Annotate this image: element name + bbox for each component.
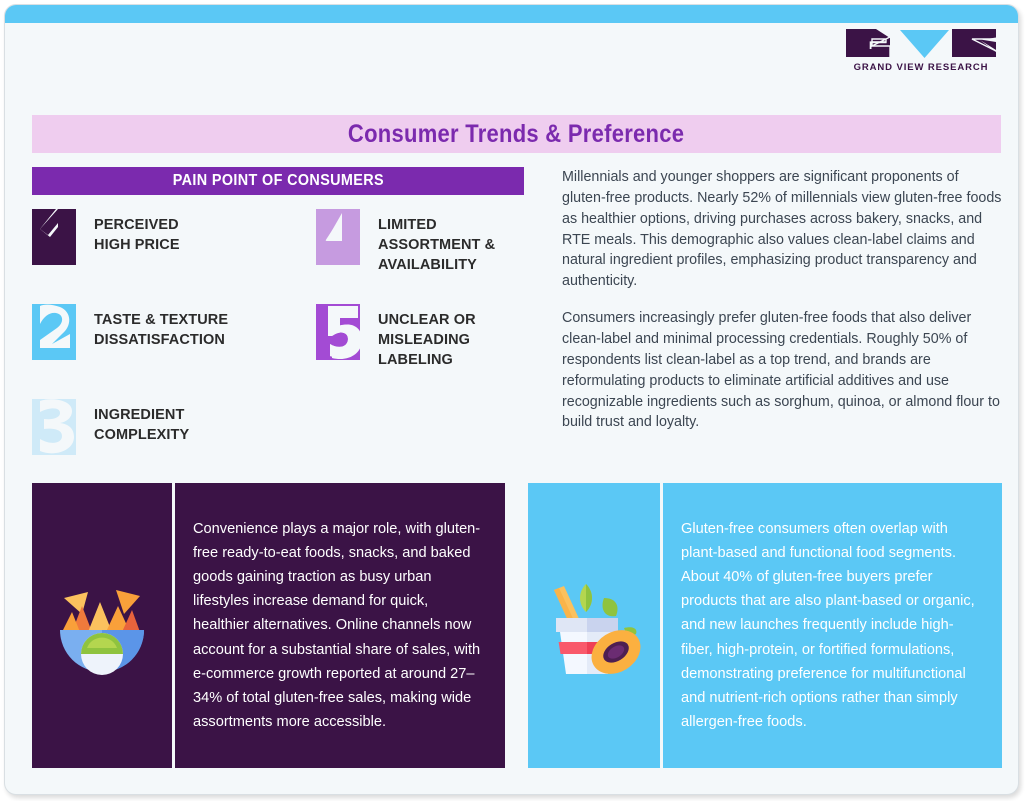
pain-point-label-line: INGREDIENT: [94, 407, 184, 423]
pain-point-item-4: LIMITED ASSORTMENT & AVAILABILITY: [316, 209, 526, 275]
pain-point-item-2: TASTE & TEXTURE DISSATISFACTION: [32, 304, 262, 360]
pain-point-label-5: UNCLEAR OR MISLEADING LABELING: [378, 304, 476, 370]
number-4-icon: [316, 209, 364, 265]
pain-point-label-1: PERCEIVED HIGH PRICE: [94, 209, 180, 255]
pain-point-label-line: PERCEIVED: [94, 217, 179, 233]
insight-paragraph-1: Millennials and younger shoppers are sig…: [562, 167, 1002, 292]
number-3-icon: [32, 399, 80, 455]
plant-based-card-body: Gluten-free consumers often overlap with…: [663, 483, 1002, 768]
pain-point-label-line: MISLEADING: [378, 332, 470, 348]
page-sheet: GRAND VIEW RESEARCH Consumer Trends & Pr…: [4, 4, 1019, 795]
pain-point-label-line: LABELING: [378, 352, 453, 368]
number-1-icon: [32, 209, 80, 265]
convenience-card: Convenience plays a major role, with glu…: [32, 483, 505, 768]
top-accent-bar: [5, 5, 1018, 23]
pain-points-grid: PERCEIVED HIGH PRICE: [32, 209, 524, 479]
smoothie-cup-icon: [528, 483, 660, 768]
infographic-page: GRAND VIEW RESEARCH Consumer Trends & Pr…: [0, 0, 1025, 801]
brand-logo: GRAND VIEW RESEARCH: [846, 27, 996, 75]
pain-point-label-line: HIGH PRICE: [94, 237, 180, 253]
pain-point-label-line: UNCLEAR OR: [378, 312, 476, 328]
plant-based-card-text: Gluten-free consumers often overlap with…: [681, 517, 984, 735]
pain-point-label-line: TASTE & TEXTURE: [94, 312, 228, 328]
pain-point-label-line: AVAILABILITY: [378, 257, 477, 273]
pain-point-label-line: DISSATISFACTION: [94, 332, 225, 348]
pain-points-header-label: PAIN POINT OF CONSUMERS: [172, 172, 383, 190]
pain-point-item-5: UNCLEAR OR MISLEADING LABELING: [316, 304, 526, 370]
number-5-icon: [316, 304, 364, 360]
convenience-card-body: Convenience plays a major role, with glu…: [175, 483, 505, 768]
bottom-cards: Convenience plays a major role, with glu…: [32, 483, 1002, 768]
pain-point-label-line: ASSORTMENT &: [378, 237, 495, 253]
pain-points-section: PAIN POINT OF CONSUMERS PERCEIVED HIGH: [32, 167, 524, 479]
insight-paragraph-2: Consumers increasingly prefer gluten-fre…: [562, 308, 1002, 433]
pain-point-label-3: INGREDIENT COMPLEXITY: [94, 399, 189, 445]
pain-point-label-4: LIMITED ASSORTMENT & AVAILABILITY: [378, 209, 495, 275]
brand-name: GRAND VIEW RESEARCH: [846, 62, 996, 73]
pain-point-item-1: PERCEIVED HIGH PRICE: [32, 209, 262, 265]
insights-column: Millennials and younger shoppers are sig…: [562, 167, 1002, 433]
page-title-band: Consumer Trends & Preference: [32, 115, 1001, 153]
number-2-icon: [32, 304, 80, 360]
gvr-logo-icon: [846, 27, 996, 59]
pain-point-label-2: TASTE & TEXTURE DISSATISFACTION: [94, 304, 228, 350]
nacho-bowl-icon: [32, 483, 172, 768]
pain-point-item-3: INGREDIENT COMPLEXITY: [32, 399, 262, 455]
pain-point-label-line: COMPLEXITY: [94, 427, 189, 443]
page-title: Consumer Trends & Preference: [348, 120, 684, 149]
plant-based-card: Gluten-free consumers often overlap with…: [528, 483, 1002, 768]
pain-points-header: PAIN POINT OF CONSUMERS: [32, 167, 524, 195]
pain-point-label-line: LIMITED: [378, 217, 437, 233]
convenience-card-text: Convenience plays a major role, with glu…: [193, 517, 487, 735]
